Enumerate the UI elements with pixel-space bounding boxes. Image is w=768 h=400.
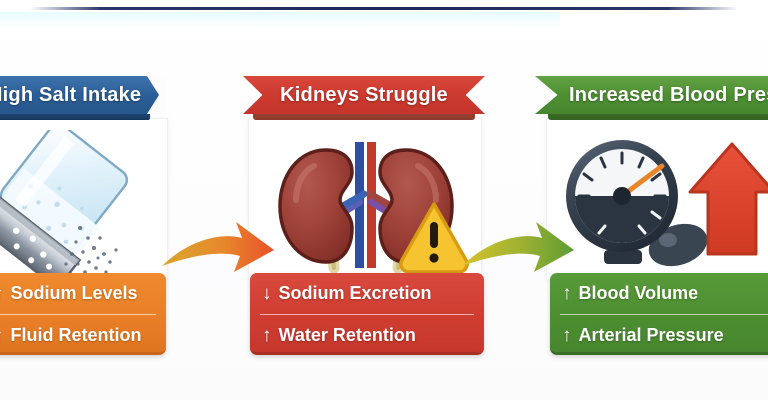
stat-label: Blood Volume [579, 283, 699, 304]
top-divider-rule [30, 7, 738, 10]
stat-row: ↑ Water Retention [250, 315, 484, 355]
stat-row: ↑ Arterial Pressure [550, 315, 768, 355]
arrow-down-icon: ↓ [262, 284, 272, 303]
stat-box-stage-1: ↑ Sodium Levels ↑ Fluid Retention [0, 273, 166, 355]
stat-label: Fluid Retention [11, 325, 142, 346]
banner-label-2: Kidneys Struggle [280, 85, 448, 105]
stat-row: ↑ Sodium Levels [0, 273, 166, 314]
stat-label: Water Retention [279, 325, 416, 346]
banner-high-salt-intake[interactable]: High Salt Intake [0, 76, 166, 114]
stat-row: ↑ Blood Volume [550, 273, 768, 314]
salt-shaker-illustration [0, 130, 163, 280]
top-gradient-wash [0, 12, 560, 28]
stat-row: ↑ Fluid Retention [0, 315, 166, 355]
banner-increased-blood-pressure[interactable]: Increased Blood Pressure [535, 76, 768, 114]
banner-label-3: Increased Blood Pressure [569, 85, 768, 105]
blood-pressure-illustration [550, 132, 768, 280]
salt-shaker-icon [0, 130, 163, 280]
stat-label: Arterial Pressure [579, 325, 724, 346]
arrow-up-icon: ↑ [0, 326, 4, 345]
arrow-up-icon: ↑ [562, 284, 572, 303]
ribbon-notch-icon [147, 76, 167, 114]
blood-pressure-gauge-icon [550, 132, 768, 280]
stat-label: Sodium Excretion [279, 283, 432, 304]
banner-kidneys-struggle[interactable]: Kidneys Struggle [243, 76, 485, 114]
kidneys-illustration [252, 128, 480, 280]
infographic-canvas: High Salt Intake Kidneys Struggle Increa… [0, 0, 768, 400]
stat-box-stage-3: ↑ Blood Volume ↑ Arterial Pressure [550, 273, 768, 355]
banner-shadow-1 [0, 114, 150, 120]
arrow-up-icon: ↑ [0, 284, 4, 303]
stat-label: Sodium Levels [11, 283, 138, 304]
stat-box-stage-2: ↓ Sodium Excretion ↑ Water Retention [250, 273, 484, 355]
arrow-up-icon: ↑ [562, 326, 572, 345]
arrow-up-icon: ↑ [262, 326, 272, 345]
stat-row: ↓ Sodium Excretion [250, 273, 484, 314]
banner-label-1: High Salt Intake [0, 85, 141, 105]
kidneys-icon [252, 128, 480, 280]
